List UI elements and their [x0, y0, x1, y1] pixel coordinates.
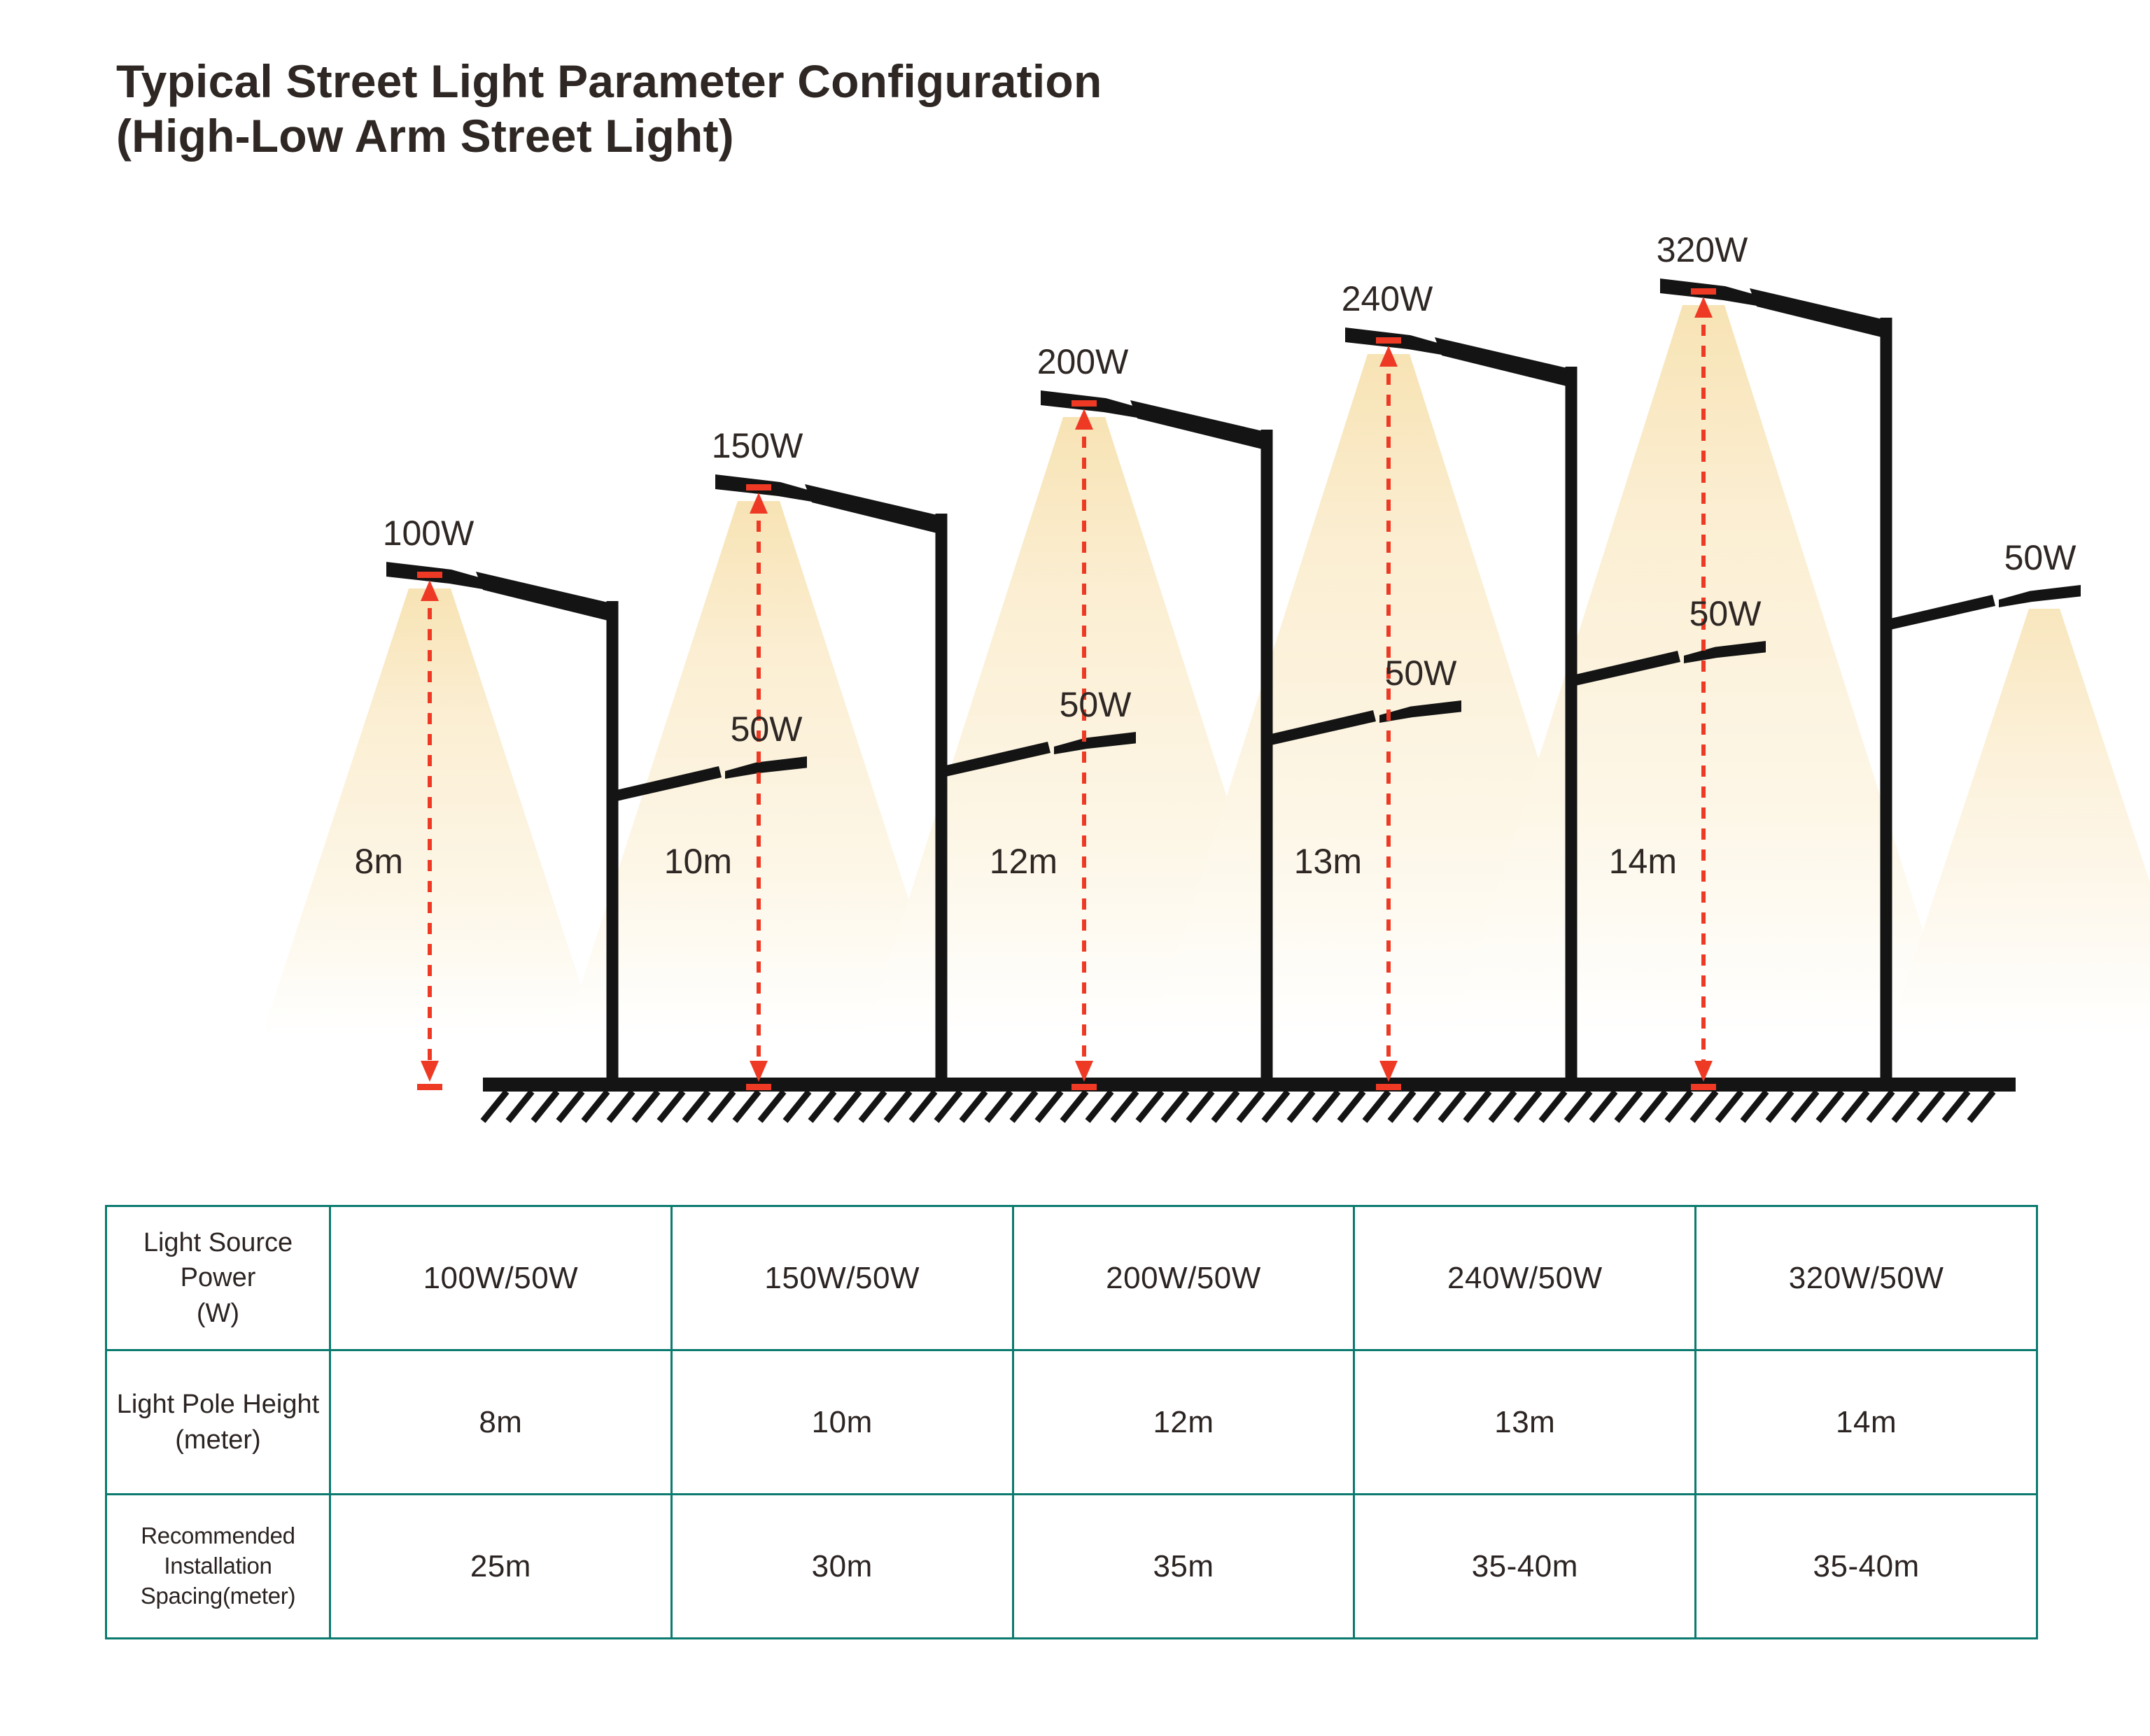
pole-mast [607, 601, 619, 1080]
light-cones-layer [262, 305, 2150, 1036]
power-label-low-8m: 50W [731, 710, 803, 749]
pole-arm-low [1890, 595, 1995, 630]
height-label-10m: 10m [664, 842, 732, 881]
pole-mast [1881, 318, 1892, 1080]
table-row: Light Source Power(W)100W/50W150W/50W200… [106, 1206, 2037, 1350]
table-cell-r0-c0: 100W/50W [330, 1206, 672, 1350]
power-label-low-10m: 50W [1060, 685, 1132, 724]
power-label-low-14m: 50W [2004, 538, 2077, 577]
row-header-line-2: Spacing(meter) [113, 1581, 323, 1611]
table-cell-r0-c3: 240W/50W [1354, 1206, 1696, 1350]
height-label-14m: 14m [1609, 842, 1677, 881]
pole-arm-high [1435, 337, 1573, 388]
luminaire-head [1999, 585, 2081, 607]
page-title: Typical Street Light Parameter Configura… [116, 55, 1796, 164]
ground-layer [483, 1078, 2016, 1121]
pole-mast [1566, 367, 1578, 1080]
table-row-header: Light Pole Height(meter) [106, 1350, 330, 1495]
title-line-1: Typical Street Light Parameter Configura… [116, 55, 1796, 109]
height-label-8m: 8m [355, 842, 403, 881]
table-cell-r0-c2: 200W/50W [1013, 1206, 1354, 1350]
light-cone-low-50W [1888, 609, 2150, 1036]
height-label-12m: 12m [990, 842, 1058, 881]
row-header-line-2: (W) [113, 1296, 323, 1331]
table-cell-r0-c1: 150W/50W [671, 1206, 1013, 1350]
row-header-line-1: Light Source Power [113, 1225, 323, 1295]
row-header-line-2: (meter) [113, 1423, 323, 1458]
table-cell-r2-c3: 35-40m [1354, 1495, 1696, 1639]
table-cell-r1-c2: 12m [1013, 1350, 1354, 1495]
pole-arm-high [1750, 288, 1888, 339]
pole-arm-high [1130, 400, 1268, 451]
table-row-header: Light Source Power(W) [106, 1206, 330, 1350]
pole-arm-high [805, 484, 943, 535]
table-cell-r2-c0: 25m [330, 1495, 672, 1639]
ground-hatching [483, 1092, 1993, 1121]
ground-line [483, 1078, 2016, 1092]
table-cell-r1-c4: 14m [1696, 1350, 2037, 1495]
table-cell-r2-c1: 30m [671, 1495, 1013, 1639]
title-line-2: (High-Low Arm Street Light) [116, 109, 1796, 164]
street-light-diagram: 100W50W8m150W50W10m200W50W12m240W50W13m3… [0, 210, 2150, 1134]
power-label-240W: 240W [1342, 279, 1433, 318]
table-cell-r1-c1: 10m [671, 1350, 1013, 1495]
table-cell-r2-c2: 35m [1013, 1495, 1354, 1639]
parameter-table: Light Source Power(W)100W/50W150W/50W200… [105, 1205, 2038, 1639]
street-light-svg: 100W50W8m150W50W10m200W50W12m240W50W13m3… [0, 210, 2150, 1134]
table-row: Recommended InstallationSpacing(meter)25… [106, 1495, 2037, 1639]
table-row: Light Pole Height(meter)8m10m12m13m14m [106, 1350, 2037, 1495]
spec-table-container: Light Source Power(W)100W/50W150W/50W200… [105, 1205, 2038, 1639]
table-cell-r0-c4: 320W/50W [1696, 1206, 2037, 1350]
power-label-200W: 200W [1037, 342, 1129, 381]
pole-mast [936, 514, 948, 1080]
power-label-150W: 150W [712, 426, 803, 465]
table-cell-r2-c4: 35-40m [1696, 1495, 2037, 1639]
power-label-low-13m: 50W [1689, 594, 1762, 633]
table-row-header: Recommended InstallationSpacing(meter) [106, 1495, 330, 1639]
pole-mast [1261, 430, 1273, 1080]
power-label-320W: 320W [1657, 230, 1748, 269]
row-header-line-1: Light Pole Height [113, 1387, 323, 1422]
pole-arm-high [476, 572, 614, 622]
table-cell-r1-c3: 13m [1354, 1350, 1696, 1495]
power-label-low-12m: 50W [1385, 654, 1458, 693]
row-header-line-1: Recommended Installation [113, 1521, 323, 1581]
height-label-13m: 13m [1294, 842, 1362, 881]
power-label-100W: 100W [383, 514, 475, 553]
table-cell-r1-c0: 8m [330, 1350, 672, 1495]
